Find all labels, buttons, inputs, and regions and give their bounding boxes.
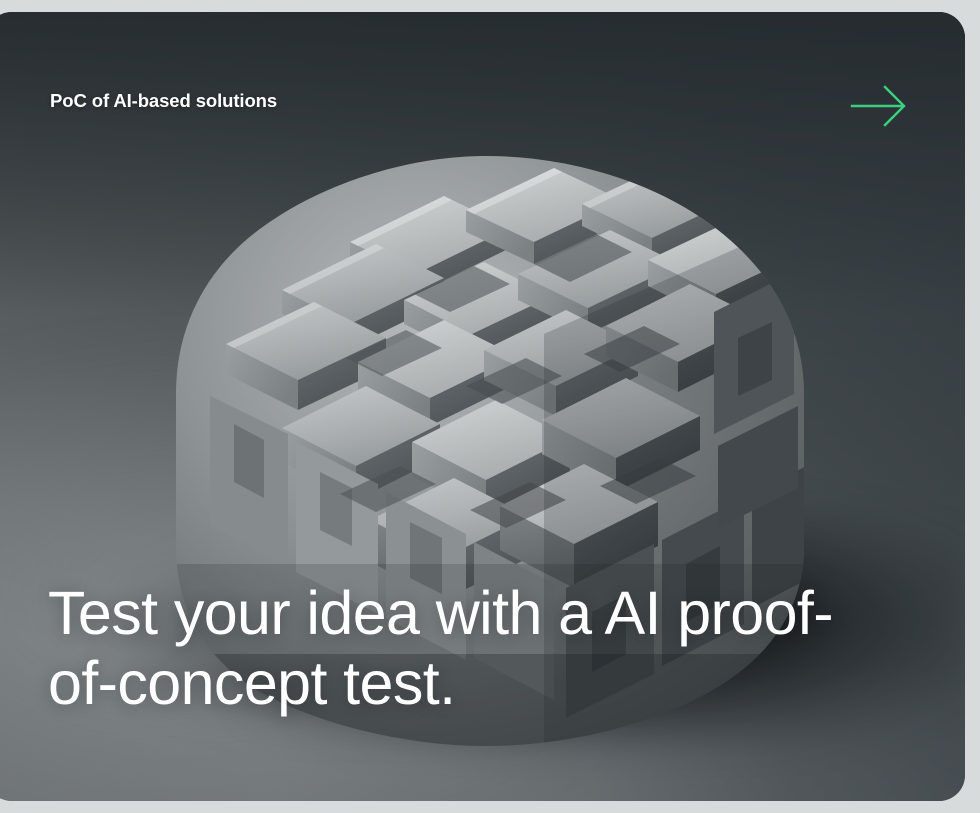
headline-line-2: of-concept test. [48, 648, 868, 718]
card-eyebrow-label: PoC of AI-based solutions [50, 90, 277, 112]
arrow-right-icon[interactable] [848, 78, 910, 134]
hero-card[interactable]: PoC of AI-based solutions Test your idea… [0, 12, 965, 801]
arrow-right-glyph [848, 78, 910, 134]
screenshot-stage: PoC of AI-based solutions Test your idea… [0, 0, 980, 813]
headline-line-1: Test your idea with a AI proof- [48, 578, 868, 648]
card-headline: Test your idea with a AI proof- of-conce… [48, 578, 868, 718]
